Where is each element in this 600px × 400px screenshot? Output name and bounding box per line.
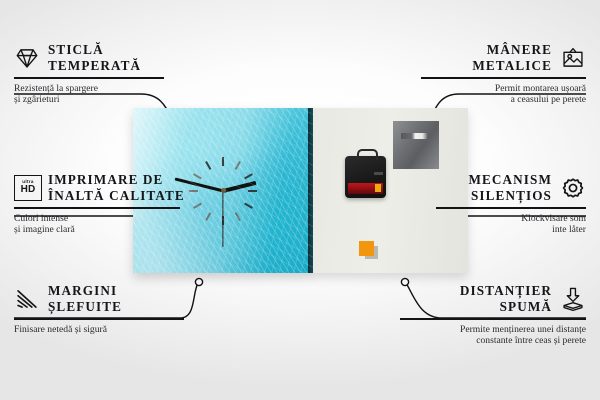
metal-hanger-plate <box>393 121 439 169</box>
clock-mechanism <box>345 156 386 198</box>
feature-subtitle: Permit montarea ușoară <box>421 83 586 95</box>
hour-marker <box>193 173 253 209</box>
feature-foam-spacer: DISTANȚIER SPUMĂ Permite menținerea unei… <box>400 283 586 347</box>
feature-title: MARGINI ȘLEFUITE <box>48 283 122 314</box>
divider <box>400 318 586 320</box>
feature-high-quality-print: ultra HD IMPRIMARE DE ÎNALTĂ CALITATE Cu… <box>14 172 180 236</box>
feature-heading: MARGINI ȘLEFUITE <box>14 283 184 314</box>
hour-marker <box>222 157 224 225</box>
feature-metal-hangers: MÂNERE METALICE Permit montarea ușoară a… <box>421 42 586 106</box>
foam-spacer-pad <box>359 241 374 256</box>
hour-marker <box>193 173 253 209</box>
feature-heading: STICLĂ TEMPERATĂ <box>14 42 164 73</box>
feature-title: DISTANȚIER SPUMĂ <box>460 283 552 314</box>
center-pin <box>221 188 226 193</box>
battery-terminal <box>375 184 381 192</box>
feature-heading: MÂNERE METALICE <box>421 42 586 73</box>
feature-title: IMPRIMARE DE ÎNALTĂ CALITATE <box>48 172 185 203</box>
feature-subtitle: Rezistență la spargere <box>14 83 164 95</box>
feature-tempered-glass: STICLĂ TEMPERATĂ Rezistență la spargere … <box>14 42 164 106</box>
hour-marker <box>189 190 257 192</box>
feature-subtitle: Klockvisare som <box>436 213 586 225</box>
feature-heading: DISTANȚIER SPUMĂ <box>400 283 586 314</box>
divider <box>14 207 180 209</box>
feature-subtitle: Finisare netedă și sigură <box>14 324 184 336</box>
feature-subtitle: a ceasului pe perete <box>421 94 586 106</box>
picture-hanger-icon <box>560 45 586 71</box>
infographic-stage: STICLĂ TEMPERATĂ Rezistență la spargere … <box>0 0 600 400</box>
feature-subtitle: inte låter <box>436 224 586 236</box>
gear-icon <box>560 175 586 201</box>
hour-marker <box>205 161 241 221</box>
hour-marker <box>222 157 224 225</box>
polished-edge-icon <box>14 286 40 312</box>
hour-marker <box>205 161 241 221</box>
feature-title: MECANISM SILENȚIOS <box>468 172 552 203</box>
hour-hand <box>223 180 257 192</box>
battery <box>348 183 383 194</box>
divider <box>14 318 184 320</box>
feature-silent-mechanism: MECANISM SILENȚIOS Klockvisare som inte … <box>436 172 586 236</box>
mechanism-loop <box>357 149 378 160</box>
hanger-slot <box>401 133 427 139</box>
feature-polished-edges: MARGINI ȘLEFUITE Finisare netedă și sigu… <box>14 283 184 335</box>
mechanism-chip <box>374 172 383 175</box>
divider <box>436 207 586 209</box>
feature-heading: MECANISM SILENȚIOS <box>436 172 586 203</box>
feature-subtitle: constante între ceas și perete <box>400 335 586 347</box>
diamond-icon <box>14 45 40 71</box>
second-hand <box>222 191 223 247</box>
feature-title: STICLĂ TEMPERATĂ <box>48 42 141 73</box>
hour-marker <box>193 173 253 209</box>
divider <box>14 77 164 79</box>
feature-subtitle: Culori intense <box>14 213 180 225</box>
ultra-hd-bottom-label: HD <box>21 185 36 195</box>
hour-marker <box>205 161 241 221</box>
hour-marker <box>193 173 253 209</box>
hour-marker <box>189 190 257 192</box>
feature-title: MÂNERE METALICE <box>472 42 552 73</box>
divider <box>421 77 586 79</box>
feature-subtitle: și imagine clară <box>14 224 180 236</box>
dot-edges <box>195 278 202 285</box>
feature-heading: ultra HD IMPRIMARE DE ÎNALTĂ CALITATE <box>14 172 180 203</box>
feature-subtitle: Permite menținerea unei distanțe <box>400 324 586 336</box>
press-down-foam-icon <box>560 286 586 312</box>
feature-subtitle: și zgârieturi <box>14 94 164 106</box>
ultra-hd-icon: ultra HD <box>14 175 40 201</box>
hour-marker <box>205 161 241 221</box>
